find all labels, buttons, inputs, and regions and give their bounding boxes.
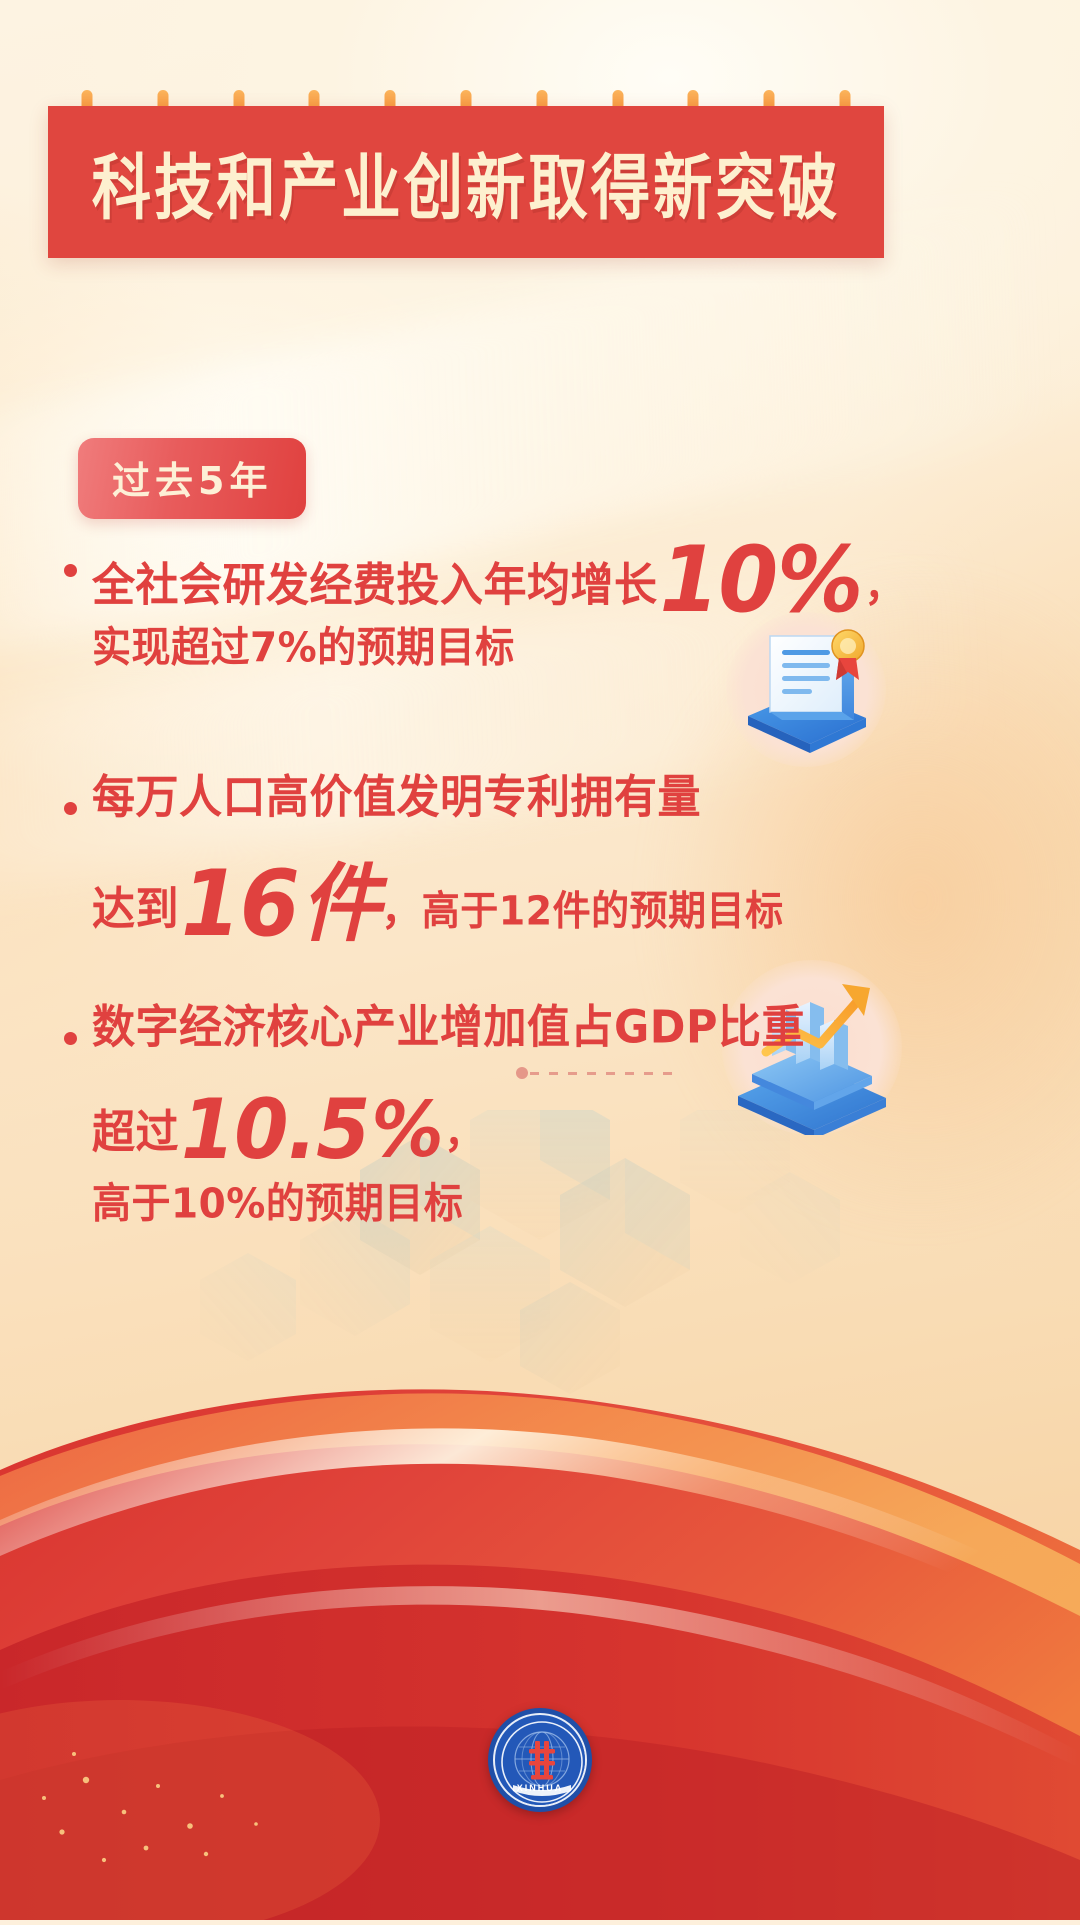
bullet-item-high-value-patents: 每万人口高价值发明专利拥有量 达到16件，高于12件的预期目标 <box>0 760 1080 960</box>
bullet-dot <box>64 1032 77 1045</box>
bullet-1-line-1: 全社会研发经费投入年均增长10%， <box>92 535 905 628</box>
bullet-item-rnd-spending: 全社会研发经费投入年均增长10%， 实现超过7%的预期目标 <box>0 520 1080 710</box>
bullet-3-comma: ， <box>444 1109 485 1158</box>
bullet-2-number: 16 <box>179 851 301 957</box>
bullet-2-text-pre: 达到 <box>92 883 179 936</box>
bullet-3-text-pre: 超过 <box>92 1106 179 1159</box>
page-title: 科技和产业创新取得新突破 <box>92 131 840 234</box>
bullet-2-text-post: 高于12件的预期目标 <box>422 887 784 934</box>
bullet-dot <box>64 802 77 815</box>
bullet-1-text-pre: 全社会研发经费投入年均增长 <box>92 559 658 612</box>
bullet-dot <box>64 564 77 577</box>
bullet-2-unit: 件 <box>301 854 382 953</box>
bullet-3-number: 10.5 <box>179 1083 371 1178</box>
bullet-3-line-1: 数字经济核心产业增加值占GDP比重 <box>92 1005 805 1051</box>
bullet-1-comma: ， <box>864 562 905 611</box>
bullet-3-line-2: 超过10.5%， <box>92 1089 485 1173</box>
banner-body: 科技和产业创新取得新突破 <box>48 106 884 258</box>
bullet-2-line-1: 每万人口高价值发明专利拥有量 <box>92 775 701 821</box>
logo-wordmark: XINHUA <box>495 1783 585 1793</box>
bullet-2-line-2: 达到16件，高于12件的预期目标 <box>92 859 784 952</box>
bullet-1-line-2: 实现超过7%的预期目标 <box>92 628 515 670</box>
bullet-3-unit: % <box>371 1085 444 1174</box>
bullet-2-comma: ， <box>381 886 422 935</box>
bullet-item-digital-economy-gdp: 数字经济核心产业增加值占GDP比重 超过10.5%， 高于10%的预期目标 <box>0 990 1080 1270</box>
bullet-1-number: 10% <box>658 527 865 633</box>
period-tag: 过去5年 <box>78 438 306 519</box>
xinhua-logo-icon: XINHUA <box>488 1708 592 1812</box>
bottom-red-wave <box>0 1220 1080 1920</box>
period-tag-label: 过去5年 <box>112 459 272 503</box>
bullet-3-line-3: 高于10%的预期目标 <box>92 1184 463 1226</box>
logo-inner-disc: XINHUA <box>493 1713 587 1807</box>
title-banner: 科技和产业创新取得新突破 <box>48 106 884 258</box>
